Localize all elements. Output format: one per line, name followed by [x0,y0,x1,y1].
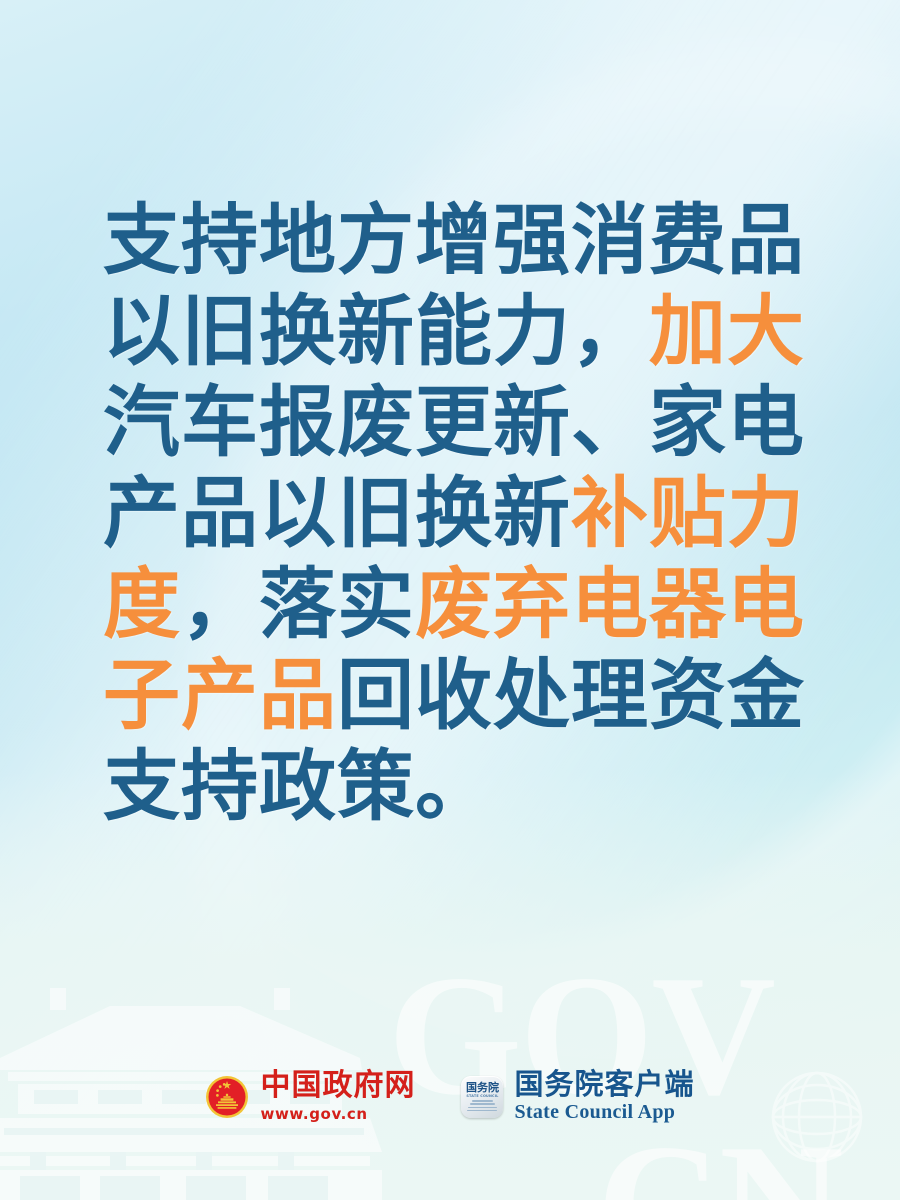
app-icon-title: 国务院 [461,1082,503,1093]
national-emblem-icon [205,1075,249,1119]
state-council-app-icon: 国务院 STATE COUNCIL [461,1076,503,1118]
poster-canvas: GOV.CN [0,0,900,1200]
gov-portal-brand[interactable]: 中国政府网 www.gov.cn [205,1071,415,1123]
state-council-app-name: 国务院客户端 [514,1070,694,1100]
state-council-app-brand[interactable]: 国务院 STATE COUNCIL 国务院客户端 State Council A… [461,1070,694,1125]
state-council-app-text: 国务院客户端 State Council App [514,1070,694,1125]
headline-segment: ，落实 [181,561,415,650]
gov-portal-name: 中国政府网 [260,1071,415,1102]
page-headline: 支持地方增强消费品以旧换新能力，加大汽车报废更新、家电产品以旧换新补贴力度，落实… [103,196,823,833]
state-council-app-subtitle: State Council App [514,1101,694,1124]
app-icon-subtitle: STATE COUNCIL [461,1094,503,1098]
headline-highlight-segment: 加大 [649,288,805,377]
footer-brand-bar: 中国政府网 www.gov.cn 国务院 STATE COUNCIL 国务院客户… [0,1062,900,1132]
gov-portal-url: www.gov.cn [260,1105,415,1123]
app-icon-bars [467,1100,497,1113]
gov-portal-text: 中国政府网 www.gov.cn [260,1071,415,1123]
